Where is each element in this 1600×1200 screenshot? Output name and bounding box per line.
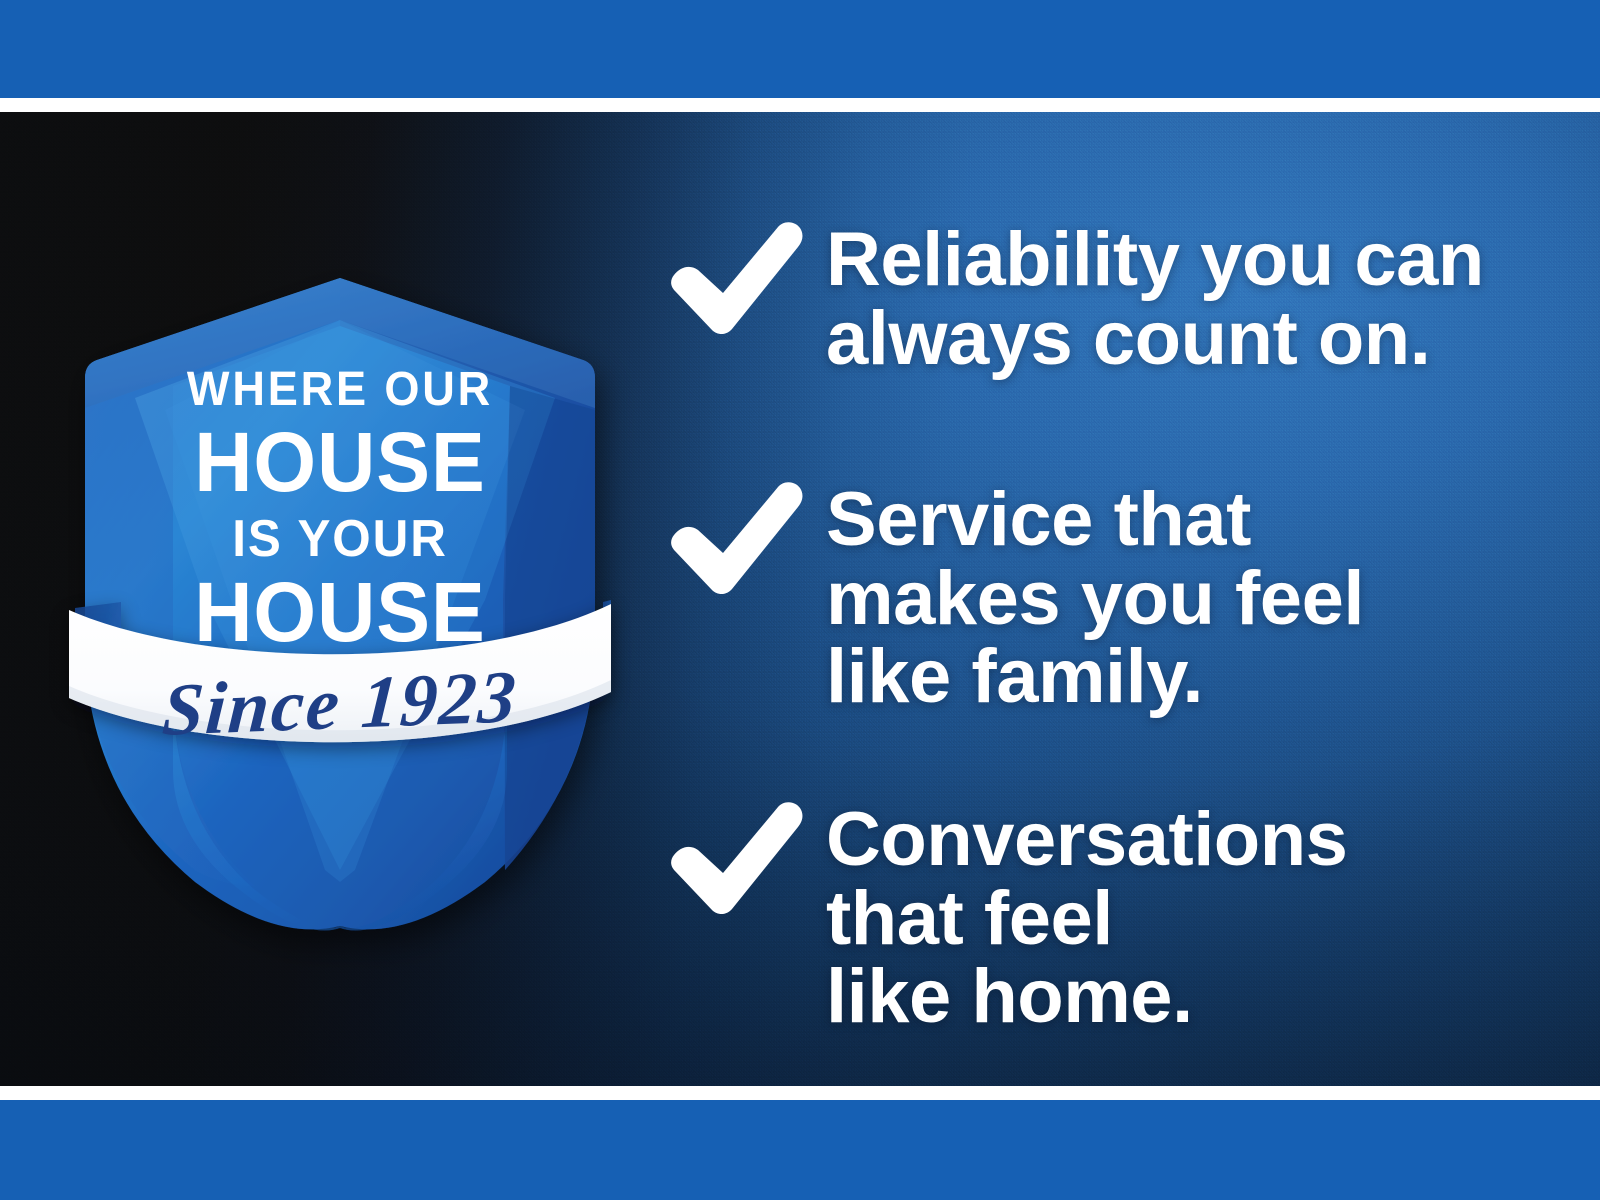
benefit-item-conversations: Conversations that feel like home. bbox=[660, 797, 1540, 1037]
benefit-line: Reliability you can bbox=[826, 221, 1540, 300]
benefit-text-service: Service that makes you feel like family. bbox=[826, 477, 1540, 717]
shield-body bbox=[85, 278, 595, 930]
benefit-line: Service that bbox=[826, 481, 1540, 560]
bottom-brand-bar bbox=[0, 1100, 1600, 1200]
checkmark-icon bbox=[660, 477, 810, 597]
benefit-line: always count on. bbox=[826, 300, 1540, 379]
benefit-text-reliability: Reliability you can always count on. bbox=[826, 217, 1540, 378]
benefit-item-service: Service that makes you feel like family. bbox=[660, 477, 1540, 717]
benefit-line: Conversations bbox=[826, 801, 1540, 880]
benefit-text-conversations: Conversations that feel like home. bbox=[826, 797, 1540, 1037]
benefit-item-reliability: Reliability you can always count on. bbox=[660, 217, 1540, 378]
checkmark-icon bbox=[660, 217, 810, 337]
benefit-line: makes you feel bbox=[826, 560, 1540, 639]
benefit-line: like family. bbox=[826, 638, 1540, 717]
top-white-divider bbox=[0, 98, 1600, 112]
shield-badge: WHERE OUR HOUSE IS YOUR HOUSE Since 1923 bbox=[55, 170, 625, 950]
benefits-list: Reliability you can always count on. Ser… bbox=[660, 112, 1540, 1086]
benefit-line: that feel bbox=[826, 880, 1540, 959]
checkmark-icon bbox=[660, 797, 810, 917]
top-brand-bar bbox=[0, 0, 1600, 98]
promo-graphic-canvas: WHERE OUR HOUSE IS YOUR HOUSE Since 1923… bbox=[0, 0, 1600, 1200]
benefit-line: like home. bbox=[826, 958, 1540, 1037]
bottom-white-divider bbox=[0, 1086, 1600, 1100]
